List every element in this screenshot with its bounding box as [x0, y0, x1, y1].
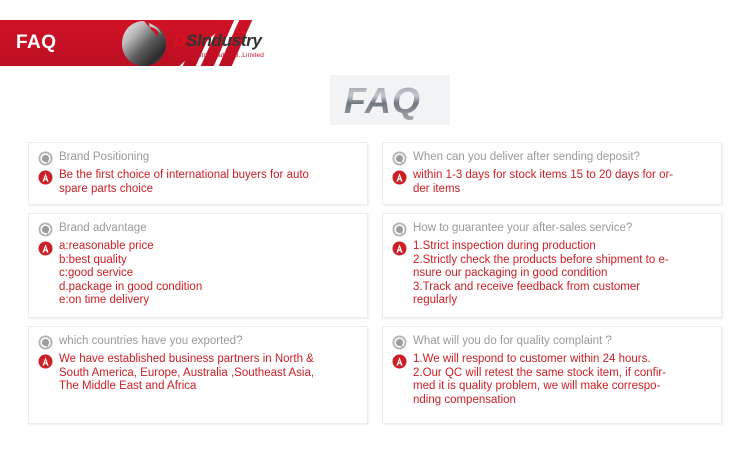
- logo-title-accent: D: [174, 31, 186, 50]
- question-mark-circle-icon: [38, 222, 53, 237]
- logo-title: DSIndustry: [174, 32, 264, 50]
- logo-wordmark: DSIndustry DS Industry Trade Co.,Limited: [174, 32, 264, 60]
- faq-answer-text: 1.We will respond to customer within 24 …: [413, 353, 666, 407]
- faq-answer-text: Be the first choice of international buy…: [59, 169, 309, 196]
- question-mark-circle-icon: [38, 151, 53, 166]
- ds-swirl-logo-icon: [118, 18, 170, 70]
- answer-letter-circle-icon: [38, 354, 53, 369]
- faq-question-text: What will you do for quality complaint ?: [413, 334, 612, 349]
- faq-card: When can you deliver after sending depos…: [382, 142, 722, 205]
- faq-answer-row: Be the first choice of international buy…: [38, 169, 358, 196]
- faq-card: Brand PositioningBe the first choice of …: [28, 142, 368, 205]
- faq-card-grid: Brand PositioningBe the first choice of …: [28, 142, 722, 424]
- faq-banner-label: FAQ: [16, 31, 57, 55]
- question-mark-circle-icon: [38, 335, 53, 350]
- page-header: FAQ: [0, 0, 750, 78]
- faq-answer-row: 1.Strict inspection during production 2.…: [392, 240, 712, 308]
- question-mark-circle-icon: [392, 151, 407, 166]
- faq-question-row: When can you deliver after sending depos…: [392, 150, 712, 166]
- question-mark-circle-icon: [392, 222, 407, 237]
- faq-question-text: How to guarantee your after-sales servic…: [413, 221, 632, 236]
- faq-card: What will you do for quality complaint ?…: [382, 326, 722, 424]
- faq-card: Brand advantagea:reasonable price b:best…: [28, 213, 368, 318]
- faq-question-text: which countries have you exported?: [59, 334, 242, 349]
- faq-question-row: How to guarantee your after-sales servic…: [392, 221, 712, 237]
- question-mark-circle-icon: [392, 335, 407, 350]
- faq-card: which countries have you exported?We hav…: [28, 326, 368, 424]
- logo-title-rest: SIndustry: [186, 31, 262, 50]
- faq-answer-row: within 1-3 days for stock items 15 to 20…: [392, 169, 712, 196]
- faq-answer-text: within 1-3 days for stock items 15 to 20…: [413, 169, 673, 196]
- page-title-plate: FAQ: [330, 75, 450, 125]
- answer-letter-circle-icon: [38, 241, 53, 256]
- faq-answer-text: We have established business partners in…: [59, 353, 314, 394]
- faq-answer-text: a:reasonable price b:best quality c:good…: [59, 240, 202, 308]
- faq-question-text: When can you deliver after sending depos…: [413, 150, 640, 165]
- faq-question-text: Brand Positioning: [59, 150, 149, 165]
- faq-answer-text: 1.Strict inspection during production 2.…: [413, 240, 669, 308]
- faq-question-row: What will you do for quality complaint ?: [392, 334, 712, 350]
- faq-question-text: Brand advantage: [59, 221, 147, 236]
- answer-letter-circle-icon: [38, 170, 53, 185]
- answer-letter-circle-icon: [392, 354, 407, 369]
- faq-card: How to guarantee your after-sales servic…: [382, 213, 722, 318]
- logo-subtitle: DS Industry Trade Co.,Limited: [174, 51, 264, 60]
- company-logo: DSIndustry DS Industry Trade Co.,Limited: [118, 18, 318, 70]
- page-title: FAQ: [344, 79, 421, 123]
- answer-letter-circle-icon: [392, 170, 407, 185]
- faq-question-row: which countries have you exported?: [38, 334, 358, 350]
- answer-letter-circle-icon: [392, 241, 407, 256]
- faq-answer-row: We have established business partners in…: [38, 353, 358, 394]
- faq-question-row: Brand Positioning: [38, 150, 358, 166]
- faq-answer-row: a:reasonable price b:best quality c:good…: [38, 240, 358, 308]
- faq-answer-row: 1.We will respond to customer within 24 …: [392, 353, 712, 407]
- faq-question-row: Brand advantage: [38, 221, 358, 237]
